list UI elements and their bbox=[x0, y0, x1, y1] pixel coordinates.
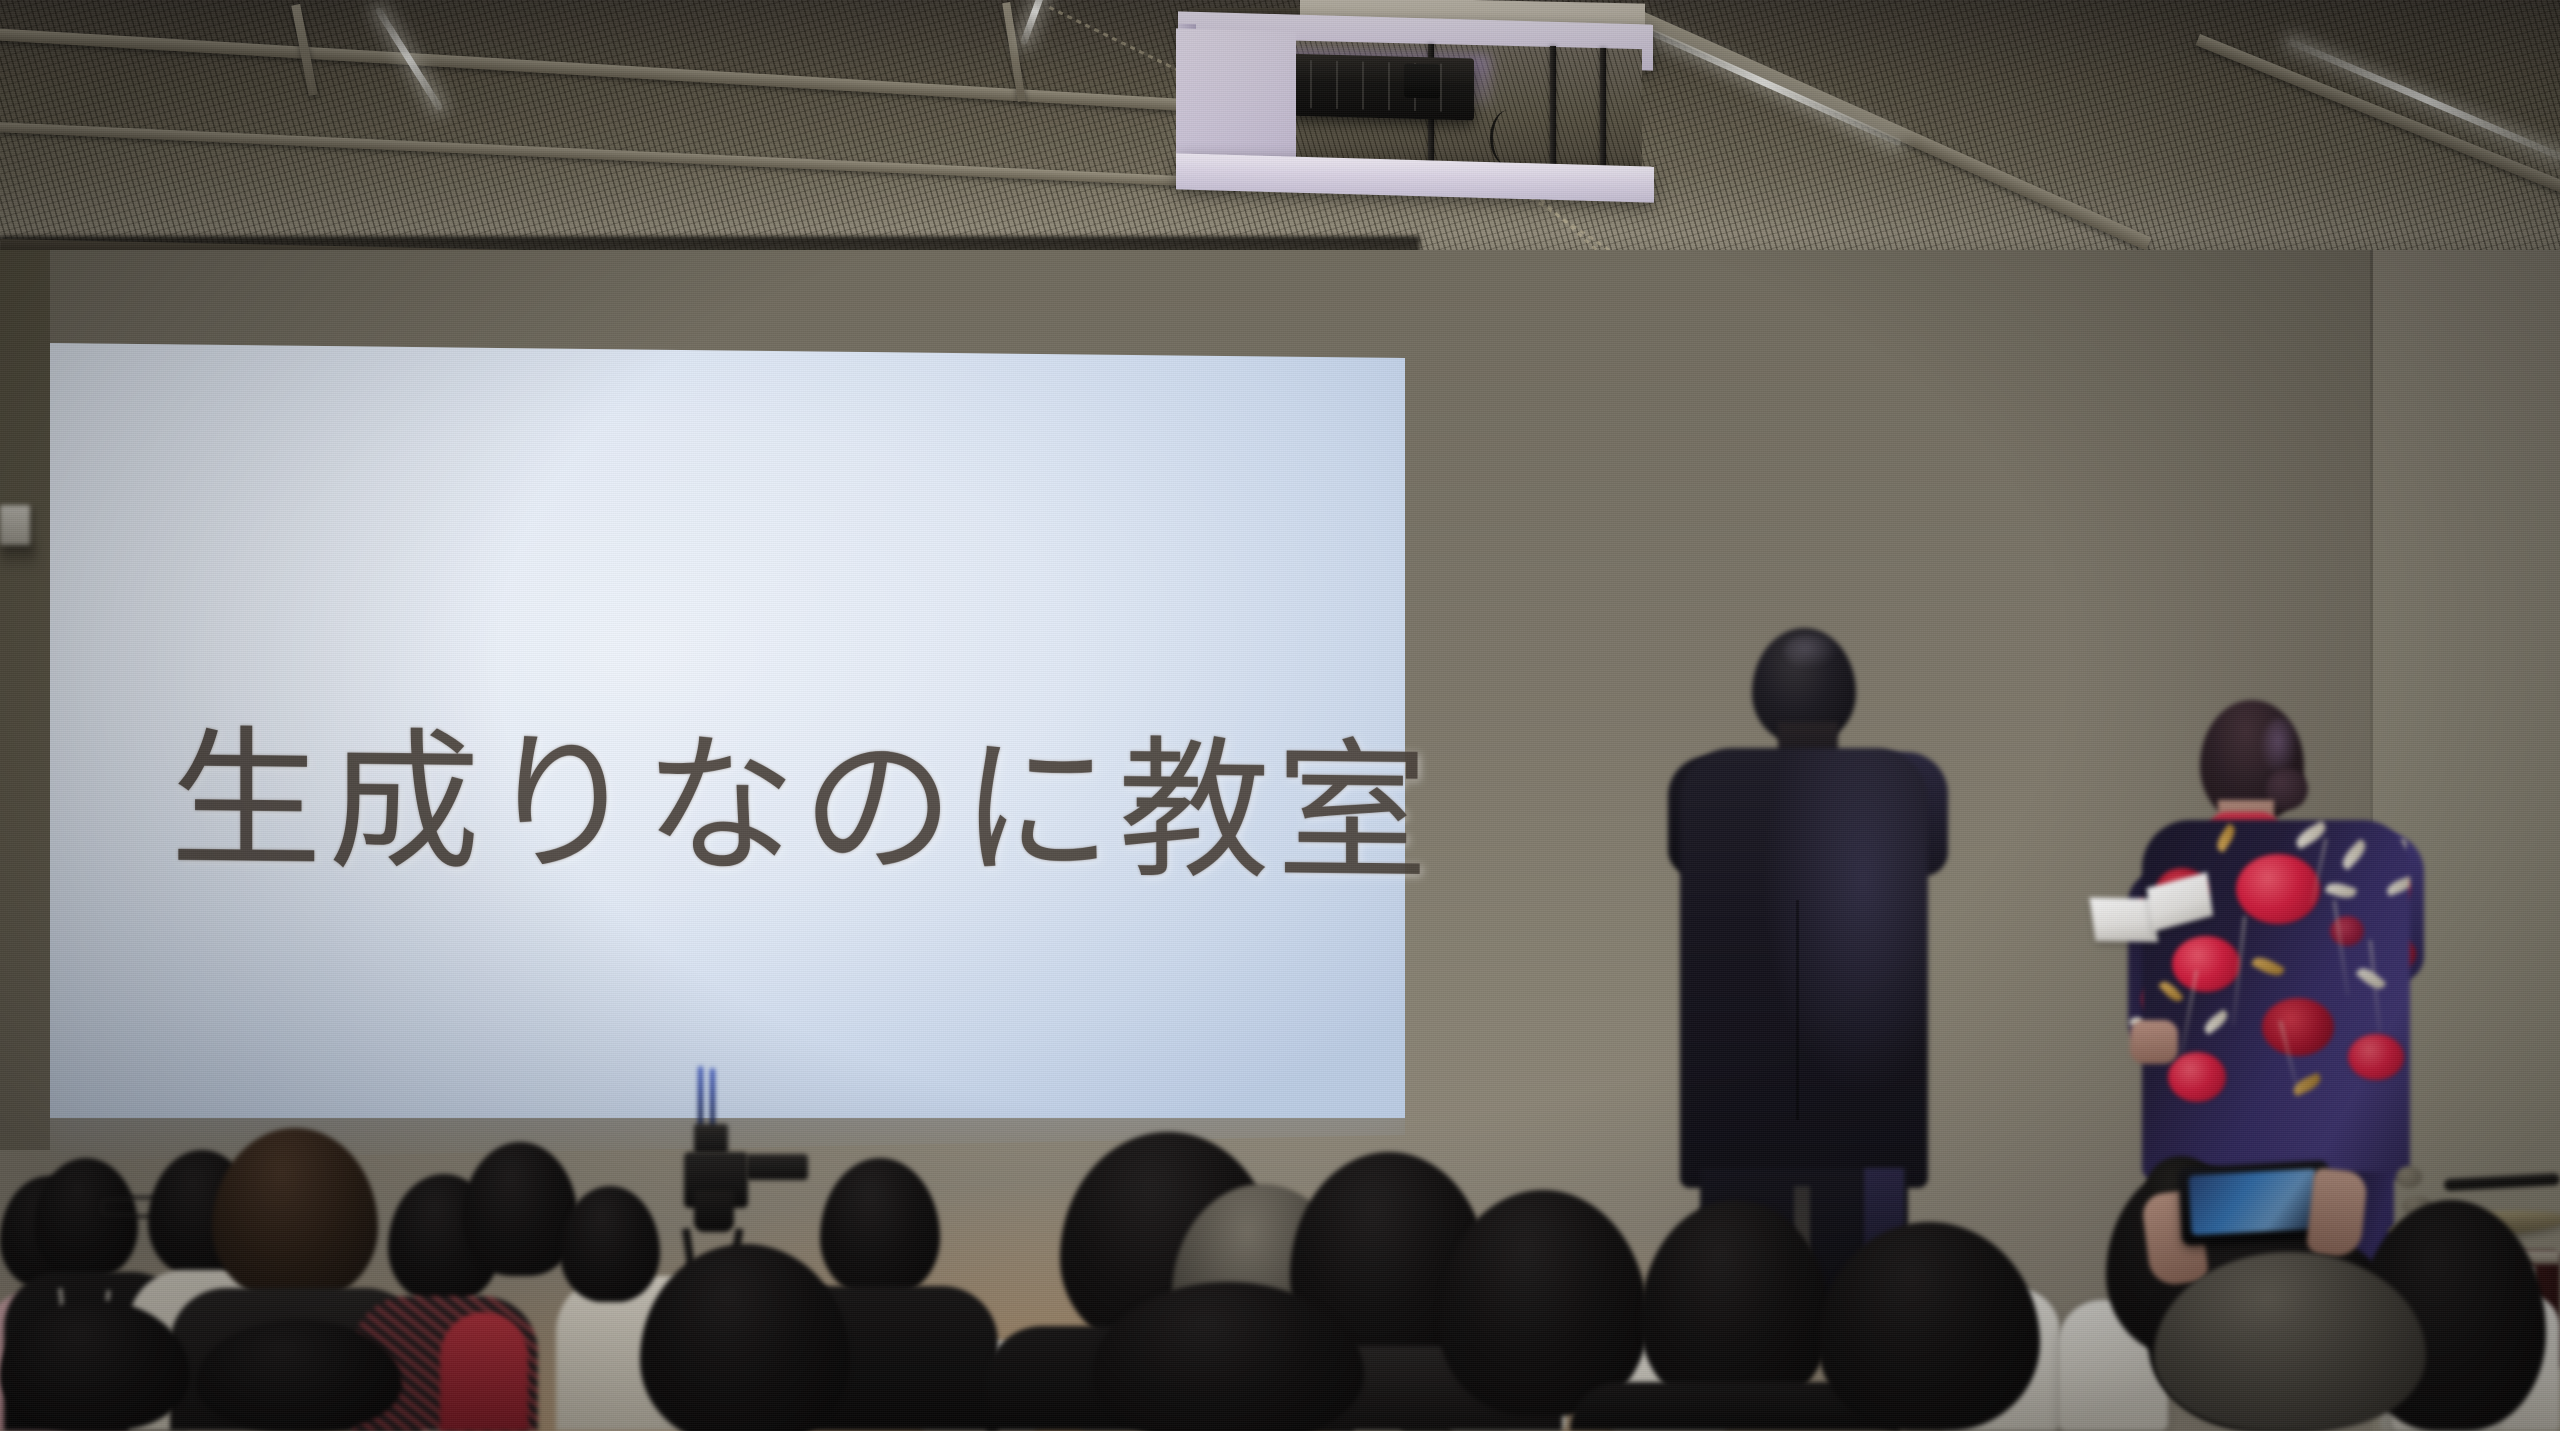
projector-lens bbox=[1404, 64, 1440, 99]
projector-vent bbox=[1336, 61, 1338, 109]
mounting-bracket bbox=[1600, 48, 1606, 176]
mounting-bracket bbox=[1550, 46, 1556, 176]
projector-cable bbox=[1490, 110, 1527, 166]
wall-hook bbox=[2396, 1166, 2422, 1188]
projector-body bbox=[1284, 54, 1474, 121]
camera-antenna bbox=[698, 1066, 703, 1128]
smartphone-screen bbox=[2189, 1169, 2320, 1236]
camera-receiver-mount bbox=[694, 1124, 728, 1154]
camera-antenna bbox=[710, 1068, 715, 1130]
presenter-man-jacket-vent bbox=[1796, 900, 1799, 1120]
presenter-woman-jacket bbox=[2142, 820, 2410, 1180]
presenter-woman-hair-highlight bbox=[2262, 718, 2298, 776]
presenter-man-hair-highlight bbox=[1784, 634, 1838, 668]
ceiling-projector-unit bbox=[1160, 0, 1680, 320]
audience-shoulders bbox=[440, 1312, 528, 1431]
projector-vent bbox=[1362, 62, 1364, 110]
presenter-man-jacket bbox=[1680, 748, 1928, 1188]
projector-vent bbox=[1310, 60, 1312, 108]
photo-canvas: 生成りなのに教室 bbox=[0, 0, 2560, 1431]
presenter-woman-hand bbox=[2130, 1020, 2178, 1064]
camera-shotgun-mic bbox=[746, 1154, 808, 1180]
slide-title-text: 生成りなのに教室 bbox=[170, 724, 1190, 887]
projector-vent bbox=[1388, 62, 1390, 110]
projector-vent bbox=[1440, 64, 1442, 112]
booklet-page-right bbox=[2147, 872, 2213, 932]
tripod-head bbox=[694, 1190, 734, 1232]
projection-screen: 生成りなのに教室 bbox=[0, 300, 1440, 1140]
